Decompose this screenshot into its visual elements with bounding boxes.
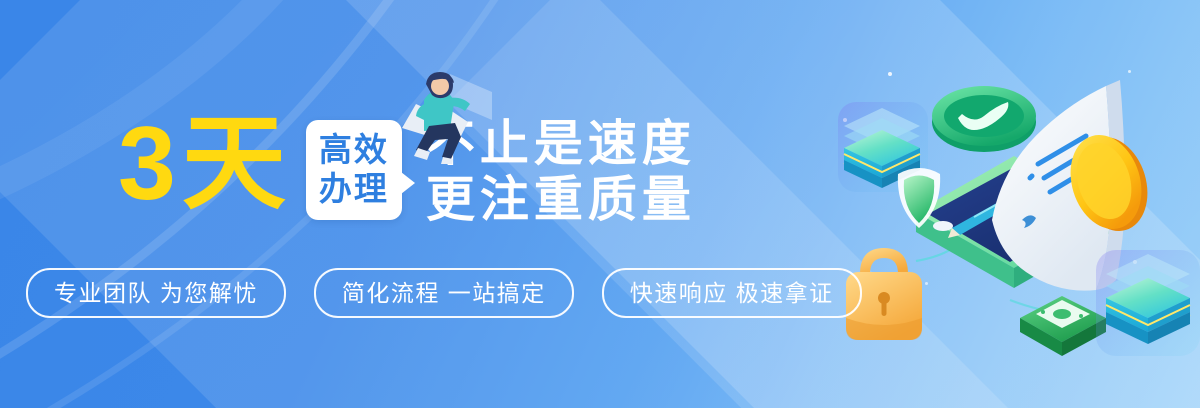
slogan-line-2: 更注重质量 <box>426 172 696 228</box>
badge-line-2: 办理 <box>319 169 389 208</box>
highlight-number: 3天 <box>118 112 292 216</box>
data-layers-right-icon <box>1096 250 1200 356</box>
person-illustration <box>388 52 498 164</box>
badge-line-1: 高效 <box>319 130 389 169</box>
money-stack-icon <box>1020 296 1106 356</box>
feature-pill-3[interactable]: 快速响应 极速拿证 <box>602 268 862 318</box>
feature-pill-2[interactable]: 简化流程 一站搞定 <box>314 268 574 318</box>
feature-pill-1[interactable]: 专业团队 为您解忧 <box>26 268 286 318</box>
service-illustration <box>824 56 1200 356</box>
green-check-coin-icon <box>932 86 1036 152</box>
feature-pill-list: 专业团队 为您解忧 简化流程 一站搞定 快速响应 极速拿证 <box>26 268 862 318</box>
promo-banner: 3天 高效 办理 不止是速度 更注重质量 <box>0 0 1200 408</box>
